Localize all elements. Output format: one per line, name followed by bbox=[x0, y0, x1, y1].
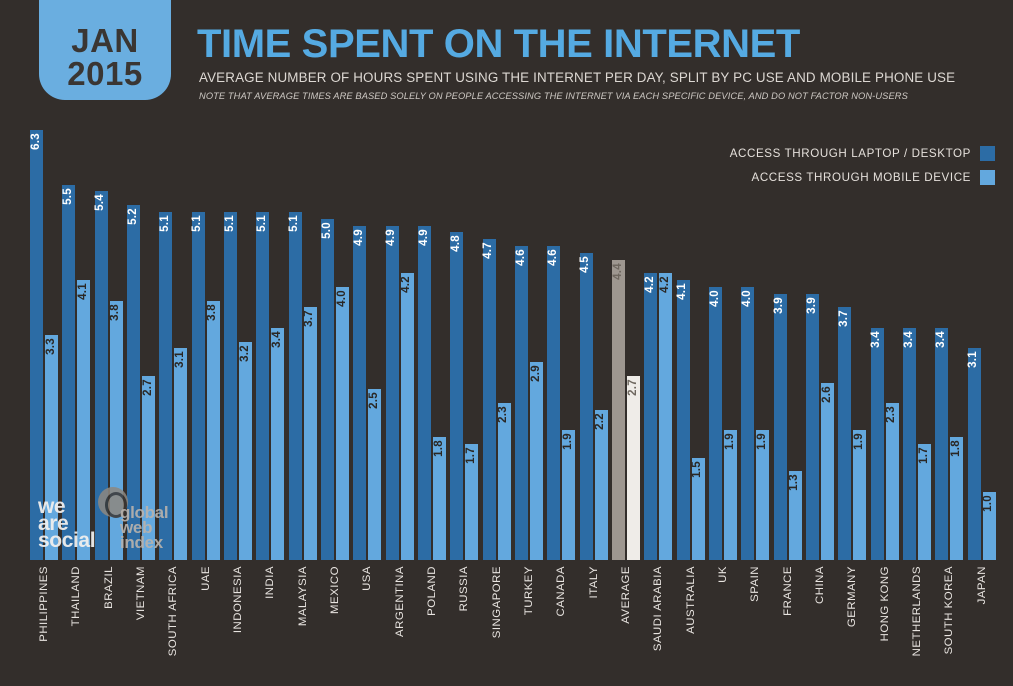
bar-group: 3.41.8 bbox=[935, 130, 963, 560]
bar-value-label: 2.5 bbox=[369, 392, 381, 409]
bar-value-label: 3.4 bbox=[936, 331, 948, 348]
bar-mobile-device: 2.9 bbox=[530, 362, 543, 560]
bar-group: 5.04.0 bbox=[321, 130, 349, 560]
bar-group: 4.72.3 bbox=[483, 130, 511, 560]
bar-value-label: 1.9 bbox=[757, 433, 769, 450]
x-axis-label: SOUTH AFRICA bbox=[167, 566, 179, 656]
bar-mobile-device: 1.9 bbox=[853, 430, 866, 560]
bar-group: 5.13.2 bbox=[224, 130, 252, 560]
bar-group: 4.11.5 bbox=[677, 130, 705, 560]
bar-mobile-device: 2.6 bbox=[821, 383, 834, 560]
bar-value-label: 5.5 bbox=[63, 188, 75, 205]
bar-value-label: 3.3 bbox=[46, 338, 58, 355]
bar-value-label: 4.7 bbox=[483, 242, 495, 259]
bar-group: 5.13.4 bbox=[256, 130, 284, 560]
bar-mobile-device: 2.3 bbox=[498, 403, 511, 560]
x-axis-label: RUSSIA bbox=[458, 566, 470, 611]
x-axis-label: SOUTH KOREA bbox=[943, 566, 955, 654]
x-axis-label: AUSTRALIA bbox=[685, 566, 697, 634]
bar-group: 4.81.7 bbox=[450, 130, 478, 560]
bar-laptop-desktop: 3.4 bbox=[903, 328, 916, 560]
bar-value-label: 1.9 bbox=[563, 433, 575, 450]
bar-value-label: 2.7 bbox=[143, 379, 155, 396]
bar-value-label: 3.9 bbox=[774, 297, 786, 314]
bar-group: 4.42.7 bbox=[612, 130, 640, 560]
bar-value-label: 1.0 bbox=[983, 495, 995, 512]
bar-mobile-device: 4.2 bbox=[659, 273, 672, 560]
bar-mobile-device: 3.4 bbox=[271, 328, 284, 560]
bar-value-label: 1.7 bbox=[919, 447, 931, 464]
bar-value-label: 6.3 bbox=[31, 133, 43, 150]
bar-value-label: 2.3 bbox=[886, 406, 898, 423]
bar-value-label: 4.5 bbox=[580, 256, 592, 273]
bar-laptop-desktop: 5.1 bbox=[256, 212, 269, 560]
x-axis-label: CANADA bbox=[555, 566, 567, 616]
bar-mobile-device: 1.5 bbox=[692, 458, 705, 560]
bar-value-label: 4.0 bbox=[337, 290, 349, 307]
x-axis-label: CHINA bbox=[814, 566, 826, 604]
badge-month: JAN bbox=[71, 24, 139, 57]
x-axis-label: VIETNAM bbox=[135, 566, 147, 620]
bar-value-label: 4.0 bbox=[742, 290, 754, 307]
bar-laptop-desktop: 3.4 bbox=[871, 328, 884, 560]
x-axis-label: INDIA bbox=[264, 566, 276, 599]
bar-mobile-device: 1.3 bbox=[789, 471, 802, 560]
bar-value-label: 3.1 bbox=[968, 351, 980, 368]
bar-laptop-desktop: 4.1 bbox=[677, 280, 690, 560]
x-axis-labels: PHILIPPINESTHAILANDBRAZILVIETNAMSOUTH AF… bbox=[0, 566, 1013, 686]
bar-mobile-device: 3.8 bbox=[207, 301, 220, 560]
bar-group: 4.91.8 bbox=[418, 130, 446, 560]
bar-value-label: 5.1 bbox=[289, 215, 301, 232]
bar-mobile-device: 1.9 bbox=[724, 430, 737, 560]
bar-value-label: 4.1 bbox=[78, 283, 90, 300]
bar-value-label: 3.2 bbox=[240, 345, 252, 362]
bar-laptop-desktop: 4.5 bbox=[580, 253, 593, 560]
bar-laptop-desktop: 5.1 bbox=[224, 212, 237, 560]
x-axis-label: JAPAN bbox=[976, 566, 988, 604]
bar-value-label: 3.8 bbox=[110, 304, 122, 321]
badge-year: 2015 bbox=[67, 57, 142, 90]
bar-group: 4.92.5 bbox=[353, 130, 381, 560]
bar-laptop-desktop: 4.9 bbox=[386, 226, 399, 560]
bar-mobile-device: 1.9 bbox=[756, 430, 769, 560]
bar-laptop-desktop: 5.0 bbox=[321, 219, 334, 560]
bar-laptop-desktop: 5.1 bbox=[192, 212, 205, 560]
bar-value-label: 2.9 bbox=[531, 365, 543, 382]
bar-laptop-desktop: 3.1 bbox=[968, 348, 981, 560]
bar-value-label: 4.9 bbox=[354, 229, 366, 246]
x-axis-label: ITALY bbox=[588, 566, 600, 598]
x-axis-label: POLAND bbox=[426, 566, 438, 616]
x-axis-label: PHILIPPINES bbox=[38, 566, 50, 642]
bar-value-label: 5.1 bbox=[257, 215, 269, 232]
bar-value-label: 3.8 bbox=[207, 304, 219, 321]
bar-laptop-desktop: 4.4 bbox=[612, 260, 625, 560]
bar-group: 4.94.2 bbox=[386, 130, 414, 560]
bar-value-label: 1.7 bbox=[466, 447, 478, 464]
x-axis-label: SAUDI ARABIA bbox=[652, 566, 664, 651]
bar-value-label: 4.1 bbox=[677, 283, 689, 300]
bar-value-label: 2.6 bbox=[822, 386, 834, 403]
bar-laptop-desktop: 4.6 bbox=[547, 246, 560, 560]
bar-mobile-device: 2.2 bbox=[595, 410, 608, 560]
x-axis-label: THAILAND bbox=[70, 566, 82, 626]
x-axis-label: NETHERLANDS bbox=[911, 566, 923, 656]
bar-laptop-desktop: 4.6 bbox=[515, 246, 528, 560]
bar-laptop-desktop: 4.2 bbox=[644, 273, 657, 560]
bar-value-label: 5.0 bbox=[322, 222, 334, 239]
bar-group: 5.54.1 bbox=[62, 130, 90, 560]
bar-value-label: 4.2 bbox=[645, 276, 657, 293]
bar-mobile-device: 1.7 bbox=[918, 444, 931, 560]
bar-laptop-desktop: 4.8 bbox=[450, 232, 463, 560]
x-axis-label: USA bbox=[361, 566, 373, 591]
bar-group: 4.01.9 bbox=[709, 130, 737, 560]
bar-mobile-device: 1.9 bbox=[562, 430, 575, 560]
bar-laptop-desktop: 3.4 bbox=[935, 328, 948, 560]
bar-mobile-device: 4.0 bbox=[336, 287, 349, 560]
bar-mobile-device: 1.8 bbox=[433, 437, 446, 560]
bar-value-label: 5.2 bbox=[128, 208, 140, 225]
bar-group: 4.61.9 bbox=[547, 130, 575, 560]
x-axis-label: ARGENTINA bbox=[394, 566, 406, 637]
bar-value-label: 3.9 bbox=[807, 297, 819, 314]
bar-laptop-desktop: 4.0 bbox=[709, 287, 722, 560]
global-web-index-logo: globalwebindex bbox=[120, 505, 168, 550]
bar-laptop-desktop: 4.7 bbox=[483, 239, 496, 560]
bar-chart: 6.33.35.54.15.43.85.22.75.13.15.13.85.13… bbox=[0, 130, 1013, 560]
page-note: NOTE THAT AVERAGE TIMES ARE BASED SOLELY… bbox=[199, 91, 908, 101]
we-are-social-logo: wearesocial bbox=[38, 498, 95, 549]
bar-value-label: 4.6 bbox=[548, 249, 560, 266]
x-axis-label: UK bbox=[717, 566, 729, 583]
infographic-root: JAN 2015 TIME SPENT ON THE INTERNET AVER… bbox=[0, 0, 1013, 686]
x-axis-label: SINGAPORE bbox=[491, 566, 503, 638]
bar-value-label: 5.1 bbox=[225, 215, 237, 232]
bar-value-label: 4.9 bbox=[386, 229, 398, 246]
bar-group: 4.01.9 bbox=[741, 130, 769, 560]
bar-mobile-device: 1.8 bbox=[950, 437, 963, 560]
bar-value-label: 5.4 bbox=[95, 194, 107, 211]
bar-value-label: 4.9 bbox=[419, 229, 431, 246]
bar-laptop-desktop: 4.9 bbox=[418, 226, 431, 560]
bar-group: 3.92.6 bbox=[806, 130, 834, 560]
bar-group: 4.52.2 bbox=[580, 130, 608, 560]
x-axis-label: SPAIN bbox=[749, 566, 761, 602]
bar-mobile-device: 2.5 bbox=[368, 389, 381, 560]
bar-laptop-desktop: 3.9 bbox=[806, 294, 819, 560]
bar-value-label: 3.7 bbox=[304, 310, 316, 327]
x-axis-label: INDONESIA bbox=[232, 566, 244, 633]
page-title: TIME SPENT ON THE INTERNET bbox=[197, 22, 800, 66]
bar-group: 3.11.0 bbox=[968, 130, 996, 560]
bar-value-label: 5.1 bbox=[160, 215, 172, 232]
x-axis-label: UAE bbox=[200, 566, 212, 591]
bar-value-label: 3.7 bbox=[839, 310, 851, 327]
date-badge: JAN 2015 bbox=[39, 0, 171, 100]
bar-value-label: 1.8 bbox=[434, 440, 446, 457]
bar-group: 5.13.8 bbox=[192, 130, 220, 560]
bar-mobile-device: 3.7 bbox=[304, 307, 317, 560]
bar-mobile-device: 1.7 bbox=[465, 444, 478, 560]
bar-mobile-device: 3.1 bbox=[174, 348, 187, 560]
bar-mobile-device: 1.0 bbox=[983, 492, 996, 560]
bar-mobile-device: 3.2 bbox=[239, 342, 252, 560]
bar-value-label: 4.6 bbox=[516, 249, 528, 266]
bar-value-label: 4.0 bbox=[710, 290, 722, 307]
bar-value-label: 1.9 bbox=[725, 433, 737, 450]
bar-value-label: 1.8 bbox=[951, 440, 963, 457]
bar-group: 3.42.3 bbox=[871, 130, 899, 560]
bar-mobile-device: 2.3 bbox=[886, 403, 899, 560]
x-axis-label: FRANCE bbox=[782, 566, 794, 616]
bar-value-label: 4.8 bbox=[451, 235, 463, 252]
bar-value-label: 1.9 bbox=[854, 433, 866, 450]
bar-value-label: 3.4 bbox=[871, 331, 883, 348]
bar-group: 4.24.2 bbox=[644, 130, 672, 560]
bar-value-label: 2.3 bbox=[498, 406, 510, 423]
bar-group: 5.22.7 bbox=[127, 130, 155, 560]
bar-value-label: 4.2 bbox=[401, 276, 413, 293]
bar-value-label: 3.4 bbox=[904, 331, 916, 348]
bar-value-label: 4.4 bbox=[613, 263, 625, 280]
x-axis-label: TURKEY bbox=[523, 566, 535, 615]
bar-group: 5.13.1 bbox=[159, 130, 187, 560]
bar-group: 3.41.7 bbox=[903, 130, 931, 560]
x-axis-label: GERMANY bbox=[846, 566, 858, 627]
bar-laptop-desktop: 3.7 bbox=[838, 307, 851, 560]
page-subtitle: AVERAGE NUMBER OF HOURS SPENT USING THE … bbox=[199, 70, 955, 85]
bar-value-label: 1.5 bbox=[692, 461, 704, 478]
bar-value-label: 3.1 bbox=[175, 351, 187, 368]
bar-laptop-desktop: 4.0 bbox=[741, 287, 754, 560]
bar-mobile-device: 4.2 bbox=[401, 273, 414, 560]
bar-value-label: 3.4 bbox=[272, 331, 284, 348]
bar-laptop-desktop: 3.9 bbox=[774, 294, 787, 560]
bar-value-label: 4.2 bbox=[660, 276, 672, 293]
bar-value-label: 2.7 bbox=[628, 379, 640, 396]
bar-value-label: 2.2 bbox=[595, 413, 607, 430]
bar-laptop-desktop: 4.9 bbox=[353, 226, 366, 560]
bar-group: 5.13.7 bbox=[289, 130, 317, 560]
x-axis-label: AVERAGE bbox=[620, 566, 632, 624]
x-axis-label: MALAYSIA bbox=[297, 566, 309, 626]
bar-value-label: 1.3 bbox=[789, 474, 801, 491]
bar-value-label: 5.1 bbox=[192, 215, 204, 232]
x-axis-label: BRAZIL bbox=[103, 566, 115, 609]
bar-group: 3.91.3 bbox=[774, 130, 802, 560]
x-axis-label: HONG KONG bbox=[879, 566, 891, 641]
bar-mobile-device: 2.7 bbox=[627, 376, 640, 560]
bar-laptop-desktop: 5.1 bbox=[289, 212, 302, 560]
x-axis-label: MEXICO bbox=[329, 566, 341, 614]
bar-group: 3.71.9 bbox=[838, 130, 866, 560]
bar-group: 4.62.9 bbox=[515, 130, 543, 560]
